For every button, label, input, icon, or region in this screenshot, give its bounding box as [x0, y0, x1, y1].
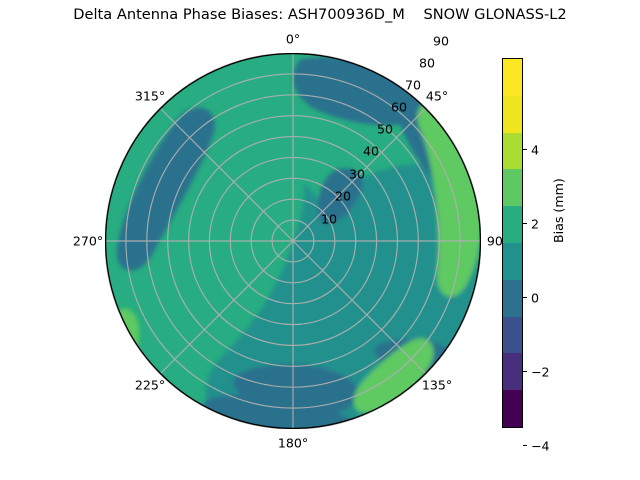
colorbar-band-9 [503, 390, 522, 427]
colorbar-gradient [502, 58, 523, 428]
angle-tick-315: 315° [135, 89, 165, 104]
radial-tick-80: 80 [419, 56, 435, 71]
colorbar-band-2 [503, 133, 522, 170]
colorbar-band-4 [503, 206, 522, 243]
colorbar-axis-label: Bias (mm) [551, 178, 566, 243]
angle-tick-135: 135° [422, 378, 452, 393]
colorbar-tick-0 [523, 297, 527, 298]
colorbar-band-7 [503, 317, 522, 354]
radial-tick-60: 60 [391, 100, 407, 115]
angle-tick-0: 0° [286, 32, 300, 47]
angle-tick-180: 180° [278, 436, 308, 451]
page-title: Delta Antenna Phase Biases: ASH700936D_M… [0, 6, 640, 23]
radial-tick-90: 90 [433, 34, 449, 49]
colorbar-band-1 [503, 96, 522, 133]
radial-tick-30: 30 [349, 167, 365, 182]
colorbar-tick-neg2 [523, 371, 527, 372]
radial-tick-20: 20 [335, 189, 351, 204]
colorbar-tick-2 [523, 223, 527, 224]
polar-plot-axes: 10 20 30 40 50 60 70 80 90 [105, 53, 481, 429]
colorbar-band-3 [503, 169, 522, 206]
polar-contour-plot [105, 53, 481, 429]
colorbar: 4 2 0 −2 −4 [502, 58, 523, 428]
colorbar-tick-4 [523, 149, 527, 150]
angle-tick-225: 225° [135, 378, 165, 393]
colorbar-band-6 [503, 280, 522, 317]
angle-tick-270: 270° [73, 234, 103, 249]
colorbar-ticklabel-4: 4 [531, 143, 539, 158]
colorbar-ticklabel-neg2: −2 [531, 365, 550, 380]
colorbar-band-8 [503, 353, 522, 390]
colorbar-band-0 [503, 59, 522, 96]
radial-tick-40: 40 [363, 144, 379, 159]
colorbar-ticklabel-neg4: −4 [531, 439, 550, 454]
colorbar-tick-neg4 [523, 445, 527, 446]
colorbar-ticklabel-2: 2 [531, 217, 539, 232]
radial-tick-70: 70 [405, 78, 421, 93]
radial-tick-10: 10 [321, 212, 337, 227]
colorbar-band-5 [503, 243, 522, 280]
angle-tick-45: 45° [426, 89, 448, 104]
colorbar-ticklabel-0: 0 [531, 291, 539, 306]
polar-grid [105, 53, 481, 429]
radial-tick-50: 50 [377, 122, 393, 137]
